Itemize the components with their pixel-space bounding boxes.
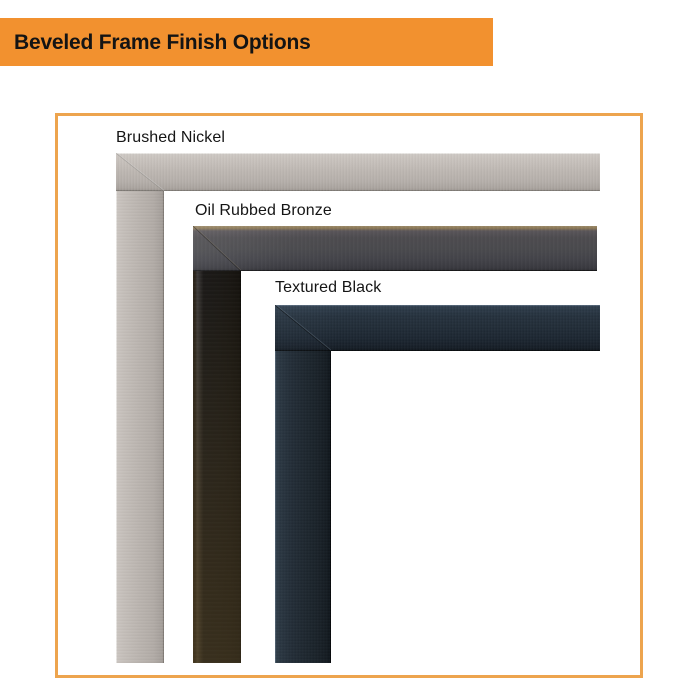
header-banner: Beveled Frame Finish Options: [0, 18, 493, 66]
swatch-label-oil-rubbed-bronze: Oil Rubbed Bronze: [195, 203, 332, 219]
frame-arm-vertical: [116, 153, 164, 663]
page-title: Beveled Frame Finish Options: [14, 32, 311, 53]
frame-arm-horizontal: [275, 305, 600, 351]
content-frame: Brushed Nickel Oil Rubbed Bronze Texture…: [55, 113, 643, 678]
swatch-label-brushed-nickel: Brushed Nickel: [116, 130, 225, 146]
frame-arm-vertical: [275, 305, 331, 663]
swatch-label-textured-black: Textured Black: [275, 280, 381, 296]
frame-arm-horizontal: [193, 226, 597, 271]
frame-arm-vertical: [193, 226, 241, 663]
frame-sample-textured-black[interactable]: [275, 305, 600, 663]
frame-sample-stage: Brushed Nickel Oil Rubbed Bronze Texture…: [58, 116, 640, 675]
frame-arm-horizontal: [116, 153, 600, 191]
